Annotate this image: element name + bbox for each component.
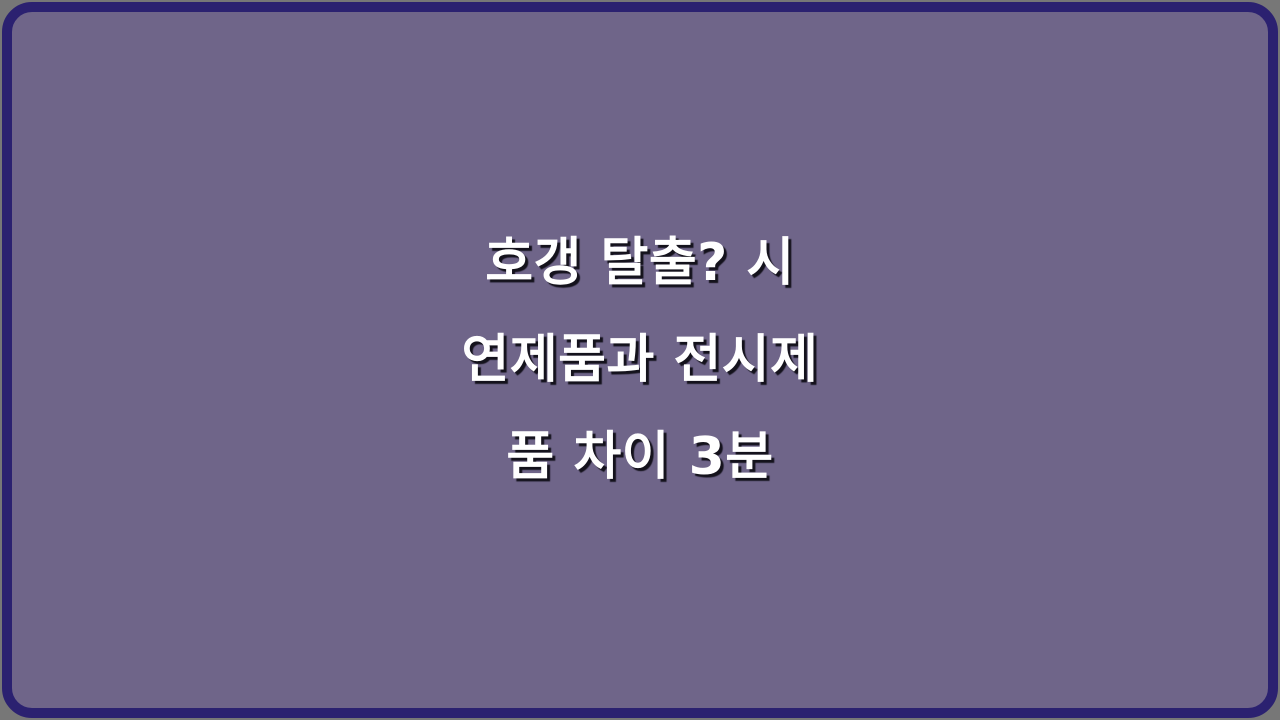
headline-line-2: 연제품과 전시제 bbox=[72, 312, 1208, 409]
headline-line-3: 품 차이 3분 bbox=[72, 409, 1208, 506]
card-frame: 호갱 탈출? 시 연제품과 전시제 품 차이 3분 bbox=[2, 2, 1278, 718]
headline-text-block: 호갱 탈출? 시 연제품과 전시제 품 차이 3분 bbox=[12, 215, 1268, 506]
headline-line-1: 호갱 탈출? 시 bbox=[72, 215, 1208, 312]
thumbnail-canvas: 호갱 탈출? 시 연제품과 전시제 품 차이 3분 bbox=[0, 0, 1280, 720]
